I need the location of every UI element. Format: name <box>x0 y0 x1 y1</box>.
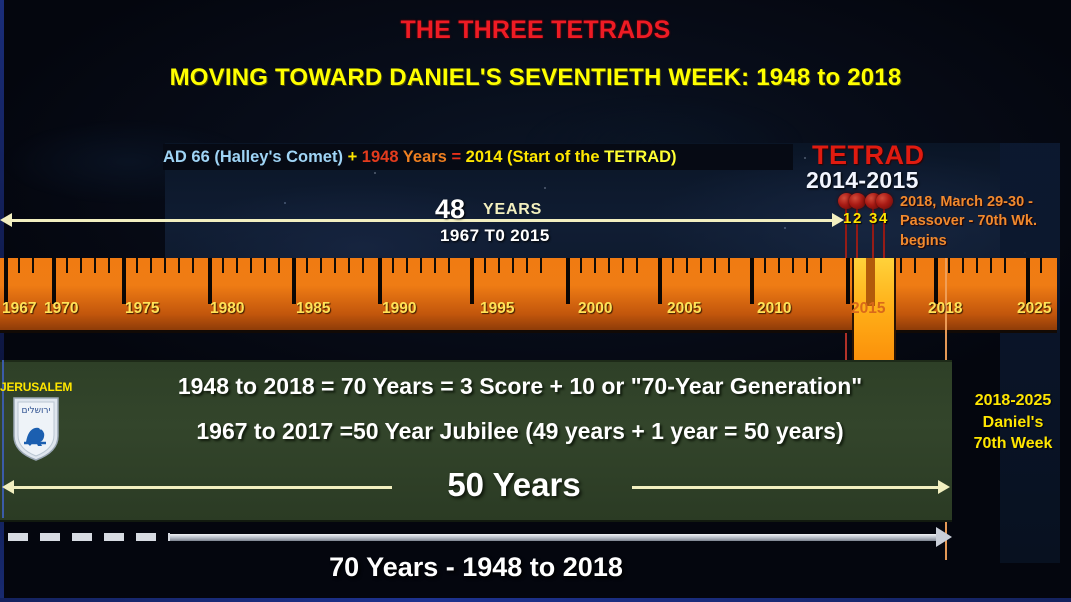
ruler-year-1985: 1985 <box>296 300 330 318</box>
ruler-tick-minor <box>18 258 20 273</box>
ruler-tick-minor <box>80 258 82 273</box>
ruler-tick-minor <box>820 258 822 273</box>
ruler-tick-minor <box>406 258 408 273</box>
statement-50-year-jubilee: 1967 to 2017 =50 Year Jubilee (49 years … <box>90 418 950 445</box>
ruler-tick-minor <box>32 258 34 273</box>
ruler-year-1967: 1967 <box>2 300 36 318</box>
ruler-tick-minor <box>914 258 916 273</box>
span-48-range: 1967 T0 2015 <box>440 226 550 246</box>
ruler-tick-minor <box>778 258 780 273</box>
ruler-year-2025: 2025 <box>1017 300 1051 318</box>
arrow-line-50-right <box>632 486 940 489</box>
jerusalem-hebrew-text: ירושלים <box>21 406 50 416</box>
ruler-tick-minor <box>764 258 766 273</box>
equation-ad66: AD 66 (Halley's Comet) <box>163 148 348 167</box>
ruler-tick-minor <box>1004 258 1006 273</box>
ruler-tick-minor <box>362 258 364 273</box>
equation-plus: + <box>348 148 362 167</box>
ruler-tick-minor <box>580 258 582 273</box>
daniel-line-2: Daniel's <box>955 412 1071 434</box>
ruler-year-2018: 2018 <box>928 300 962 318</box>
statement-70-year-generation: 1948 to 2018 = 70 Years = 3 Score + 10 o… <box>90 373 950 400</box>
blood-moon-icon-2 <box>849 193 866 209</box>
ruler-tick-minor <box>526 258 528 273</box>
ruler-tick-minor <box>94 258 96 273</box>
span-48-number: 48 <box>435 194 465 225</box>
ruler-tick-minor <box>250 258 252 273</box>
ruler-tick-major <box>934 258 938 304</box>
daniel-line-1: 2018-2025 <box>955 390 1071 412</box>
ruler-tick-minor <box>540 258 542 273</box>
bottom-arrow-line <box>170 534 940 541</box>
bottom-arrow-head <box>936 527 952 547</box>
ruler-tick-minor <box>498 258 500 273</box>
equation-years-word: Years <box>399 148 452 167</box>
ruler-tick-major <box>208 258 212 304</box>
ruler-tick-major <box>846 258 850 304</box>
ruler-tick-minor <box>484 258 486 273</box>
ruler-tick-minor <box>222 258 224 273</box>
span-48-unit: YEARS <box>483 201 542 219</box>
ruler-tick-minor <box>136 258 138 273</box>
ruler-tick-minor <box>594 258 596 273</box>
ruler-tick-minor <box>900 258 902 273</box>
ruler-tick-minor <box>990 258 992 273</box>
ruler-tick-minor <box>306 258 308 273</box>
ruler-year-2010: 2010 <box>757 300 791 318</box>
equation-equals: = <box>451 148 465 167</box>
ruler-tick-minor <box>636 258 638 273</box>
daniels-70th-week-note: 2018-2025 Daniel's 70th Week <box>955 390 1071 455</box>
ruler-tick-minor <box>264 258 266 273</box>
ruler-tick-minor <box>976 258 978 273</box>
ruler-tick-minor <box>512 258 514 273</box>
ruler-tick-major <box>658 258 662 304</box>
ruler-tick-major <box>470 258 474 304</box>
ruler-year-2000: 2000 <box>578 300 612 318</box>
slide-canvas: THE THREE TETRADS MOVING TOWARD DANIEL'S… <box>0 0 1071 602</box>
ruler-tick-minor <box>320 258 322 273</box>
ruler-tick-minor <box>420 258 422 273</box>
ruler-tick-minor <box>334 258 336 273</box>
ruler-tick-major <box>4 258 8 304</box>
ruler-year-1980: 1980 <box>210 300 244 318</box>
ruler-tick-major <box>292 258 296 304</box>
ruler-tick-minor <box>686 258 688 273</box>
ruler-year-2015: 2015 <box>851 300 885 318</box>
ruler-tick-minor <box>150 258 152 273</box>
bottom-arrow-dashes <box>8 533 170 541</box>
ruler-year-1995: 1995 <box>480 300 514 318</box>
ruler-tick-minor <box>792 258 794 273</box>
blood-moon-number-4: 4 <box>879 210 887 227</box>
ruler-tick-minor <box>608 258 610 273</box>
comet-equation-line: AD 66 (Halley's Comet) + 1948 Years = 20… <box>163 144 793 170</box>
jerusalem-label: JERUSALEM <box>0 380 72 394</box>
ruler-tick-minor <box>728 258 730 273</box>
blood-moon-icon-4 <box>876 193 893 209</box>
bottom-span-label: 70 Years - 1948 to 2018 <box>0 552 952 583</box>
ruler-tick-minor <box>178 258 180 273</box>
ruler-tick-minor <box>164 258 166 273</box>
ruler-tick-minor <box>448 258 450 273</box>
ruler-tick-minor <box>192 258 194 273</box>
ruler-tick-major <box>1026 258 1030 304</box>
ruler-tick-minor <box>392 258 394 273</box>
ruler-tick-major <box>52 258 56 304</box>
equation-tetrad-word: TETRAD) <box>604 148 676 167</box>
ruler-tick-minor <box>962 258 964 273</box>
blood-moon-number-3: 3 <box>869 210 877 227</box>
arrow-line-50-left <box>12 486 392 489</box>
equation-1948: 1948 <box>362 148 399 167</box>
ruler-tick-minor <box>700 258 702 273</box>
ruler-tick-major <box>122 258 126 304</box>
ruler-tick-minor <box>806 258 808 273</box>
ruler-tick-minor <box>108 258 110 273</box>
ruler-year-1970: 1970 <box>44 300 78 318</box>
ruler-tick-minor <box>278 258 280 273</box>
page-subtitle: MOVING TOWARD DANIEL'S SEVENTIETH WEEK: … <box>0 64 1071 92</box>
ruler-tick-minor <box>1040 258 1042 273</box>
ruler-tick-minor <box>434 258 436 273</box>
arrow-right-head-50 <box>938 480 950 494</box>
ruler-tick-minor <box>672 258 674 273</box>
ruler-tick-minor <box>66 258 68 273</box>
blood-moon-number-1: 1 <box>843 210 851 227</box>
ruler-year-2005: 2005 <box>667 300 701 318</box>
ruler-tick-minor <box>622 258 624 273</box>
jerusalem-emblem-icon: ירושלים <box>12 396 60 462</box>
ruler-year-1990: 1990 <box>382 300 416 318</box>
ruler-tick-minor <box>348 258 350 273</box>
passover-note: 2018, March 29-30 - Passover - 70th Wk. … <box>900 193 1068 251</box>
daniel-line-3: 70th Week <box>955 433 1071 455</box>
arrow-right-head-48 <box>832 213 844 227</box>
ruler-tick-minor <box>948 258 950 273</box>
ruler-tick-minor <box>714 258 716 273</box>
ruler-tick-major <box>378 258 382 304</box>
bottom-blue-edge <box>0 598 1071 602</box>
tetrad-years: 2014-2015 <box>806 167 919 194</box>
tetrad-2015-highlight-notch <box>866 258 875 306</box>
ruler-tick-major <box>750 258 754 304</box>
timeline-ruler-ticks <box>0 258 1057 330</box>
span-50-years-label: 50 Years <box>400 466 628 504</box>
arrow-line-48 <box>10 219 840 222</box>
page-title: THE THREE TETRADS <box>0 16 1071 45</box>
ruler-tick-major <box>566 258 570 304</box>
equation-result: 2014 (Start of the <box>466 148 604 167</box>
ruler-tick-minor <box>236 258 238 273</box>
ruler-year-1975: 1975 <box>125 300 159 318</box>
blood-moon-number-2: 2 <box>853 210 861 227</box>
